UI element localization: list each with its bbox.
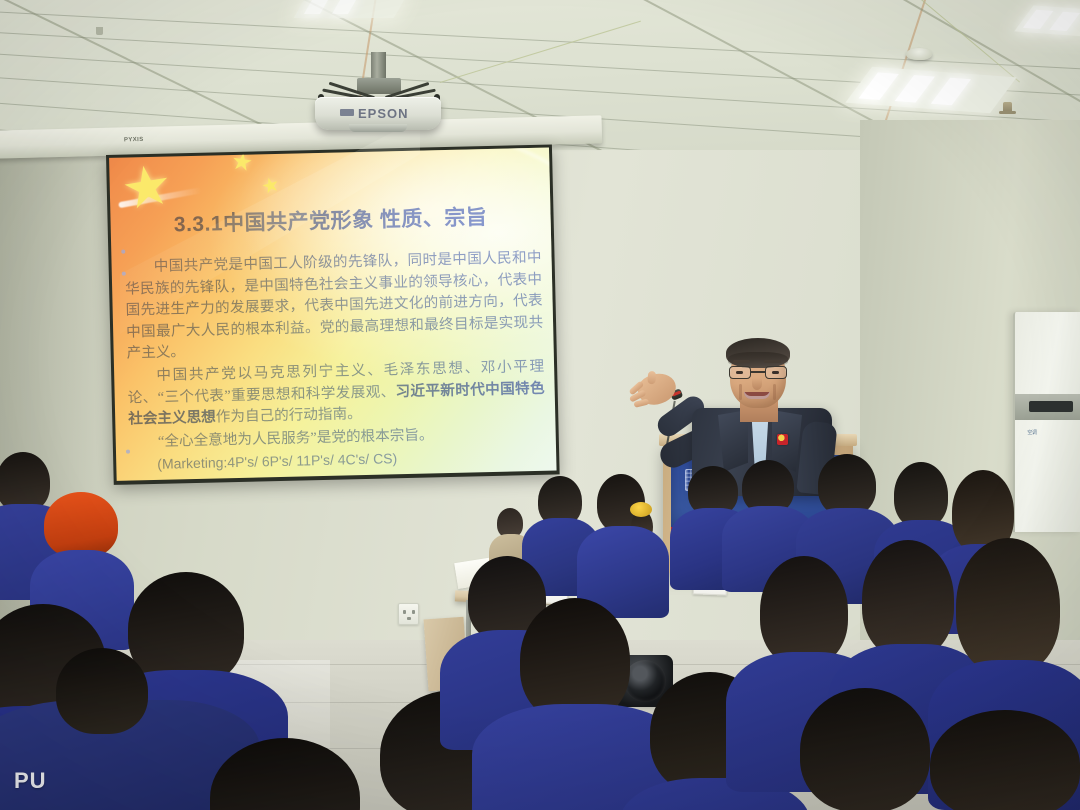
- presenter-mouth: [744, 392, 770, 399]
- ceiling-light-panel-top-left: [294, 0, 407, 18]
- epson-projector: EPSON: [315, 97, 441, 130]
- slide-bullet-1: [121, 250, 125, 254]
- projection-screen: ★ ★ ★ 3.3.1中国共产党形象 性质、宗旨 中国共产党是中国工人阶级的先锋…: [106, 144, 560, 484]
- student-hair: [800, 688, 930, 810]
- student-hair: [760, 556, 848, 666]
- party-emblem-pin-icon: [777, 434, 788, 445]
- student-hair: [862, 540, 954, 658]
- student-hair: [0, 452, 50, 512]
- hair-scrunchie: [630, 502, 652, 517]
- flag-star-small-icon-2: ★: [259, 174, 282, 198]
- presenter-brow-right: [764, 360, 781, 363]
- student-hair-orange: [44, 492, 118, 558]
- student-hair: [930, 710, 1080, 810]
- sprinkler-head-icon: [1003, 102, 1012, 114]
- student-hair: [956, 538, 1060, 674]
- air-conditioner-unit: 空调: [1013, 312, 1080, 532]
- ac-vent: [1019, 322, 1076, 388]
- presenter-smile-line-right: [773, 384, 776, 400]
- jacket-back-text: PU: [14, 768, 47, 794]
- camera-lens-glass: [624, 660, 666, 702]
- projector-lens: [349, 124, 407, 132]
- epson-logo-icon: [340, 109, 354, 116]
- wall-power-outlet[interactable]: [398, 603, 419, 625]
- slide-paragraph-1: 中国共产党是中国工人阶级的先锋队，同时是中国人民和中华民族的先锋队，是中国特色社…: [124, 248, 543, 366]
- screen-housing-endcap: [96, 27, 103, 35]
- student-hair: [894, 462, 948, 528]
- slide-body: 中国共产党是中国工人阶级的先锋队，同时是中国人民和中华民族的先锋队，是中国特色社…: [124, 248, 546, 477]
- student-hair: [818, 454, 876, 516]
- presentation-slide: ★ ★ ★ 3.3.1中国共产党形象 性质、宗旨 中国共产党是中国工人阶级的先锋…: [109, 148, 556, 481]
- smoke-detector-icon: [906, 48, 932, 60]
- student-hair: [128, 572, 244, 686]
- presenter-nose: [752, 378, 762, 390]
- screen-housing-label: PYXIS: [124, 137, 144, 143]
- presenter-brow-left: [733, 360, 750, 363]
- slide-paragraph-2: 中国共产党以马克思列宁主义、毛泽东思想、邓小平理论、“三个代表”重要思想和科学发…: [127, 357, 545, 432]
- projector-brand-label: EPSON: [358, 106, 409, 121]
- presenter-smile-line-left: [739, 384, 742, 400]
- student-hair: [56, 648, 148, 734]
- presenter-hair: [726, 338, 790, 368]
- classroom-photo: 空调 PYXIS ★ ★ ★ 3.3.1中国共产党形象 性质、宗旨 中国共产党是…: [0, 0, 1080, 810]
- ac-display-slot: [1029, 401, 1073, 412]
- flag-star-small-icon-1: ★: [230, 149, 255, 176]
- ac-label: 空调: [1021, 430, 1043, 444]
- presenter-hand: [634, 368, 680, 409]
- slide-p2-part-c: 作为自己的行动指南。: [216, 406, 362, 425]
